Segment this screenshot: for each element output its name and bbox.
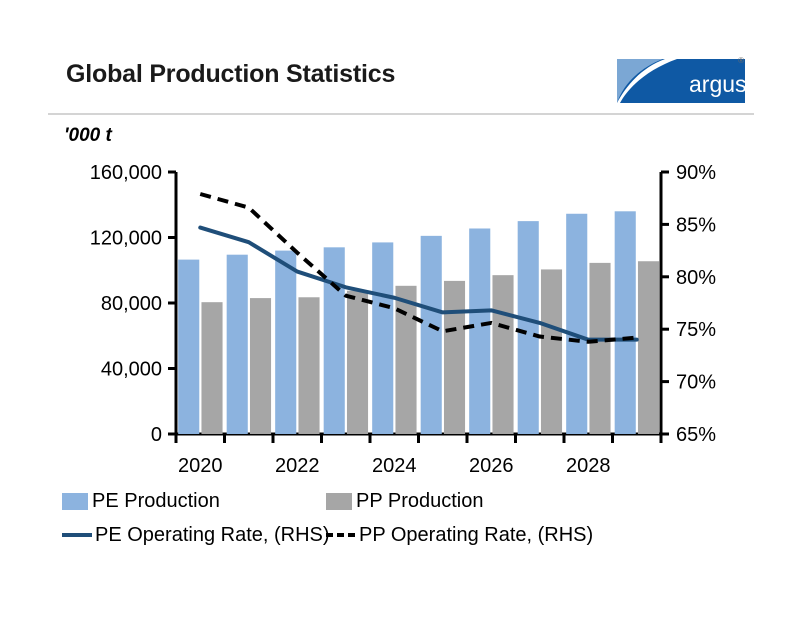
- bar-pp-production-2021: [250, 298, 271, 434]
- bar-pp-production-2024: [395, 286, 416, 434]
- legend-label-pp-production: PP Production: [356, 490, 484, 512]
- bar-pe-production-2026: [469, 228, 490, 434]
- bar-pe-production-2023: [324, 247, 345, 434]
- bar-pe-production-2020: [178, 260, 199, 434]
- page-title: Global Production Statistics: [66, 60, 395, 89]
- bar-pp-production-2028: [589, 263, 610, 434]
- x-axis-tick-label: 2022: [275, 455, 320, 477]
- y-axis-right-tick-label: 85%: [676, 214, 716, 236]
- bar-pp-production-2023: [347, 291, 368, 434]
- bar-pe-production-2021: [227, 255, 248, 434]
- x-axis-tick-label: 2028: [566, 455, 611, 477]
- registered-trademark-icon: ®: [738, 57, 744, 65]
- bar-pe-production-2024: [372, 242, 393, 434]
- x-axis-tick-labels: 20202022202420262028: [178, 455, 611, 477]
- legend-swatch-pe-production: [62, 493, 88, 510]
- bar-pe-production-2027: [518, 221, 539, 434]
- legend-item-pe-production[interactable]: PE Production: [62, 484, 220, 518]
- y-axis-right-tick-labels: 65%70%75%80%85%90%: [676, 162, 716, 446]
- x-axis-tick-label: 2026: [469, 455, 514, 477]
- legend-label-pe-production: PE Production: [92, 490, 220, 512]
- y-axis-right-tick-label: 70%: [676, 372, 716, 394]
- y-axis-right-tick-label: 80%: [676, 267, 716, 289]
- legend-item-pe-operating-rate[interactable]: PE Operating Rate, (RHS): [62, 518, 330, 552]
- y-axis-left-tick-label: 160,000: [90, 162, 162, 184]
- header-divider: [48, 113, 754, 115]
- slide-header: Global Production Statistics argus ®: [0, 0, 800, 118]
- bar-pe-production-2028: [566, 214, 587, 434]
- bar-pe-production-2022: [275, 251, 296, 434]
- bar-pp-production-2022: [298, 297, 319, 434]
- y-axis-left-tick-label: 0: [151, 424, 162, 446]
- legend-swatch-pe-operating-rate: [62, 528, 92, 542]
- legend-label-pe-operating-rate: PE Operating Rate, (RHS): [95, 524, 330, 546]
- bar-pp-production-2026: [492, 275, 513, 434]
- bar-pe-production-2029: [615, 211, 636, 434]
- y-axis-right-tick-label: 75%: [676, 319, 716, 341]
- bar-pp-production-2025: [444, 281, 465, 434]
- x-axis-tick-label: 2020: [178, 455, 223, 477]
- bar-pp-production-2027: [541, 269, 562, 434]
- slide-canvas: Global Production Statistics argus ® '00…: [0, 0, 800, 619]
- y-axis-left-tick-label: 120,000: [90, 228, 162, 250]
- argus-logo: argus ®: [617, 56, 745, 106]
- y-axis-left-tick-label: 40,000: [101, 359, 162, 381]
- y-axis-right-tick-label: 90%: [676, 162, 716, 184]
- chart-plot: 040,00080,000120,000160,000 65%70%75%80%…: [0, 118, 800, 498]
- svg-text:argus: argus: [689, 71, 745, 97]
- x-axis-tick-label: 2024: [372, 455, 417, 477]
- legend-swatch-pp-production: [326, 493, 352, 510]
- legend-label-pp-operating-rate: PP Operating Rate, (RHS): [359, 524, 593, 546]
- legend-item-pp-operating-rate[interactable]: PP Operating Rate, (RHS): [326, 518, 593, 552]
- legend-swatch-pp-operating-rate: [326, 528, 356, 542]
- argus-logo-svg: argus: [617, 56, 745, 106]
- legend-row-operating-rate: PE Operating Rate, (RHS) PP Operating Ra…: [62, 518, 762, 552]
- legend-row-production: PE Production PP Production: [62, 484, 762, 518]
- bar-pe-production-2025: [421, 236, 442, 434]
- chart-container: '000 t 040,00080,000120,000160,000 65%70…: [0, 118, 800, 498]
- chart-legend: PE Production PP Production PE Operating…: [0, 484, 800, 564]
- bar-pp-production-2020: [201, 302, 222, 434]
- y-axis-left-tick-label: 80,000: [101, 293, 162, 315]
- bar-pp-production-2029: [638, 261, 659, 434]
- legend-item-pp-production[interactable]: PP Production: [326, 484, 484, 518]
- y-axis-right-tick-label: 65%: [676, 424, 716, 446]
- y-axis-left-tick-labels: 040,00080,000120,000160,000: [90, 162, 162, 446]
